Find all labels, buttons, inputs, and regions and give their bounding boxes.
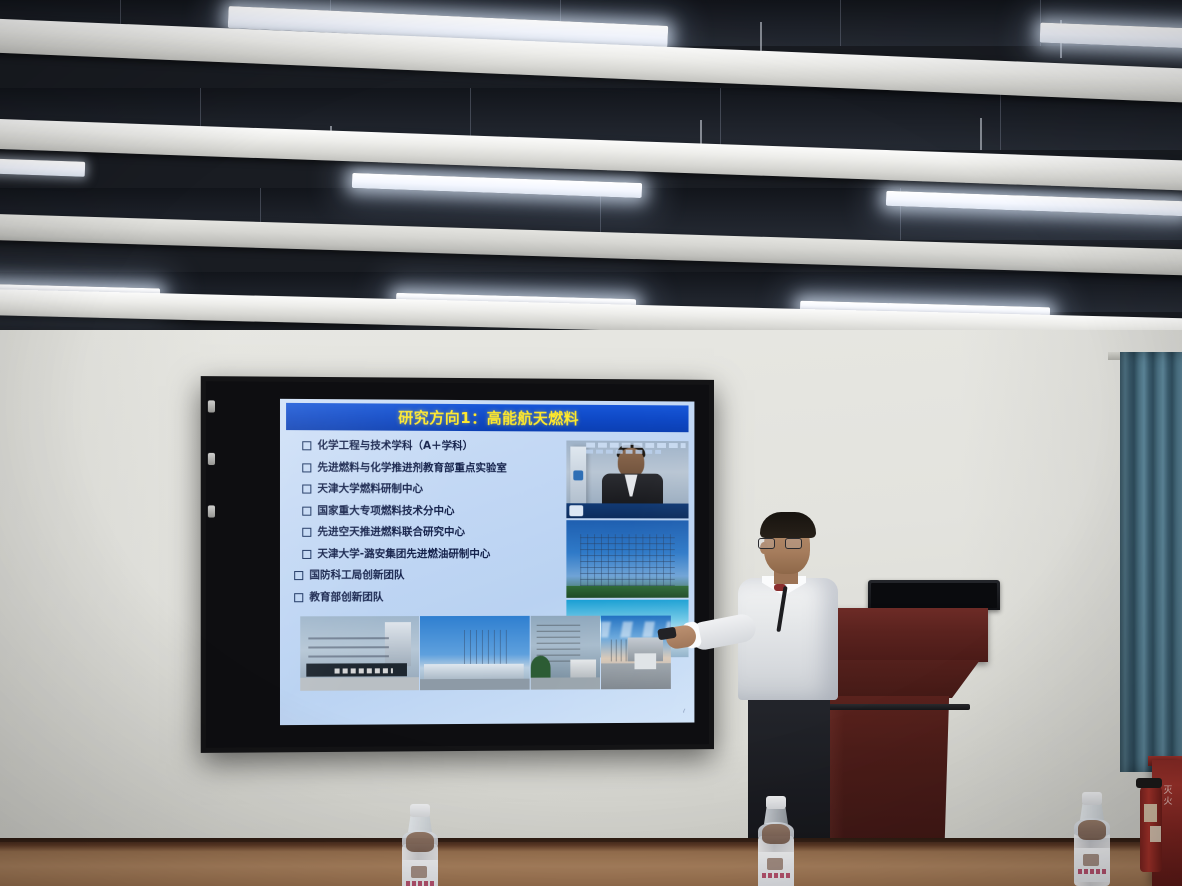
- slide-title: 研究方向1：高能航天燃料: [398, 407, 579, 429]
- presenter: [704, 510, 874, 840]
- checkbox-square-icon: [302, 485, 311, 494]
- slide-bullet-list: 化学工程与技术学科（A＋学科） 先进燃料与化学推进剂教育部重点实验室 天津大学燃…: [302, 439, 538, 613]
- laptop-screen: [871, 583, 997, 608]
- campus-facility-photo-1: [300, 616, 419, 691]
- checkbox-square-icon: [302, 528, 311, 537]
- lecture-hall-scene: 研究方向1：高能航天燃料 化学工程与技术学科（A＋学科） 先进燃料与化学推进剂教…: [0, 0, 1182, 886]
- extinguisher-tag-secondary: [1150, 826, 1161, 842]
- list-item: 先进燃料与化学推进剂教育部重点实验室: [302, 461, 538, 474]
- bullet-text: 天津大学-潞安集团先进燃油研制中心: [317, 548, 490, 560]
- list-item: 天津大学-潞安集团先进燃油研制中心: [302, 548, 538, 560]
- checkbox-square-icon: [302, 463, 311, 472]
- wall-shadow-left: [0, 330, 230, 886]
- list-item: 先进空天推进燃料联合研究中心: [302, 526, 538, 538]
- bullet-text: 国防科工局创新团队: [309, 569, 404, 581]
- campus-road-photo-4: [601, 616, 671, 690]
- projection-screen[interactable]: 研究方向1：高能航天燃料 化学工程与技术学科（A＋学科） 先进燃料与化学推进剂教…: [201, 376, 714, 753]
- bullet-text: 先进燃料与化学推进剂教育部重点实验室: [317, 461, 506, 474]
- list-item: 国防科工局创新团队: [294, 569, 538, 581]
- extinguisher-handle-icon: [1136, 778, 1162, 788]
- front-desk: [0, 842, 1182, 886]
- ceiling-light-fixture: [0, 158, 85, 177]
- checkbox-square-icon: [302, 506, 311, 515]
- bullet-text: 国家重大专项燃料技术分中心: [317, 504, 454, 516]
- bullet-text: 教育部创新团队: [309, 591, 383, 603]
- list-item: 天津大学燃料研制中心: [302, 483, 538, 496]
- checkbox-square-icon: [302, 550, 311, 559]
- window-curtain[interactable]: [1120, 352, 1182, 772]
- glasses-icon: [758, 538, 802, 549]
- presenter-trousers: [748, 696, 830, 840]
- research-building-photo: [566, 520, 688, 598]
- list-item: 教育部创新团队: [294, 591, 538, 603]
- checkbox-square-icon: [294, 593, 303, 602]
- ceiling: [0, 0, 1182, 352]
- list-item: 国家重大专项燃料技术分中心: [302, 504, 538, 517]
- laptop[interactable]: [868, 580, 1000, 610]
- bullet-text: 天津大学燃料研制中心: [317, 483, 423, 495]
- slide-page-number: 7: [682, 709, 685, 715]
- bullet-text: 先进空天推进燃料联合研究中心: [317, 526, 465, 538]
- bullet-text: 化学工程与技术学科（A＋学科）: [317, 439, 473, 452]
- campus-facility-photo-2: [420, 616, 530, 690]
- slide-title-bar: 研究方向1：高能航天燃料: [286, 403, 688, 432]
- presenter-hair: [760, 512, 816, 538]
- news-interview-photo: [566, 441, 688, 519]
- campus-gate-photo-3: [531, 616, 600, 690]
- presentation-slide: 研究方向1：高能航天燃料 化学工程与技术学科（A＋学科） 先进燃料与化学推进剂教…: [280, 399, 694, 725]
- checkbox-square-icon: [294, 571, 303, 580]
- presenter-shirt: [738, 578, 838, 700]
- extinguisher-tag: [1144, 804, 1157, 822]
- checkbox-square-icon: [302, 441, 311, 450]
- fire-cabinet-label: 灭火: [1160, 786, 1176, 808]
- list-item: 化学工程与技术学科（A＋学科）: [302, 439, 538, 452]
- slide-bottom-image-strip: [300, 616, 671, 691]
